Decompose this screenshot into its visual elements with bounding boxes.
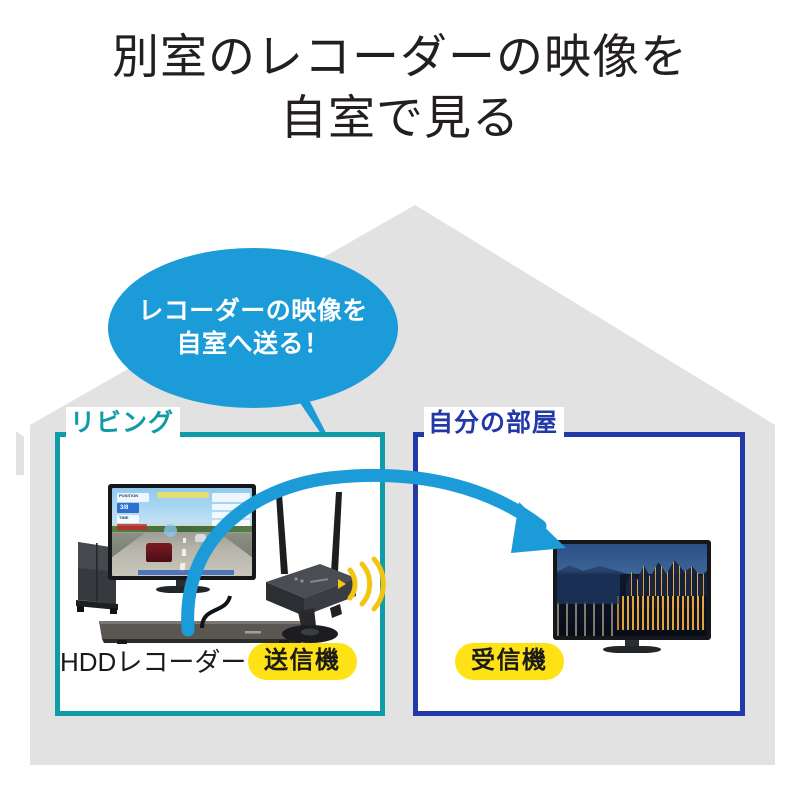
signal-flow-arrow — [0, 430, 800, 660]
speech-bubble-line1: レコーダーの映像を — [138, 295, 368, 328]
speech-bubble-text: レコーダーの映像を 自室へ送る！ — [108, 248, 398, 408]
caption-hdd-recorder: HDDレコーダー — [60, 642, 246, 679]
page-title-line2: 自室で見る — [0, 89, 800, 150]
speech-bubble-line2: 自室へ送る！ — [176, 328, 329, 361]
badge-receiver: 受信機 — [455, 643, 564, 680]
page-title-line1: 別室のレコーダーの映像を — [112, 32, 688, 84]
badge-transmitter: 送信機 — [248, 643, 357, 680]
illustration-canvas: 別室のレコーダーの映像を 自室で見る レコーダーの映像を 自室へ送る！ リビング — [0, 0, 800, 800]
page-title: 別室のレコーダーの映像を 自室で見る — [0, 28, 800, 150]
